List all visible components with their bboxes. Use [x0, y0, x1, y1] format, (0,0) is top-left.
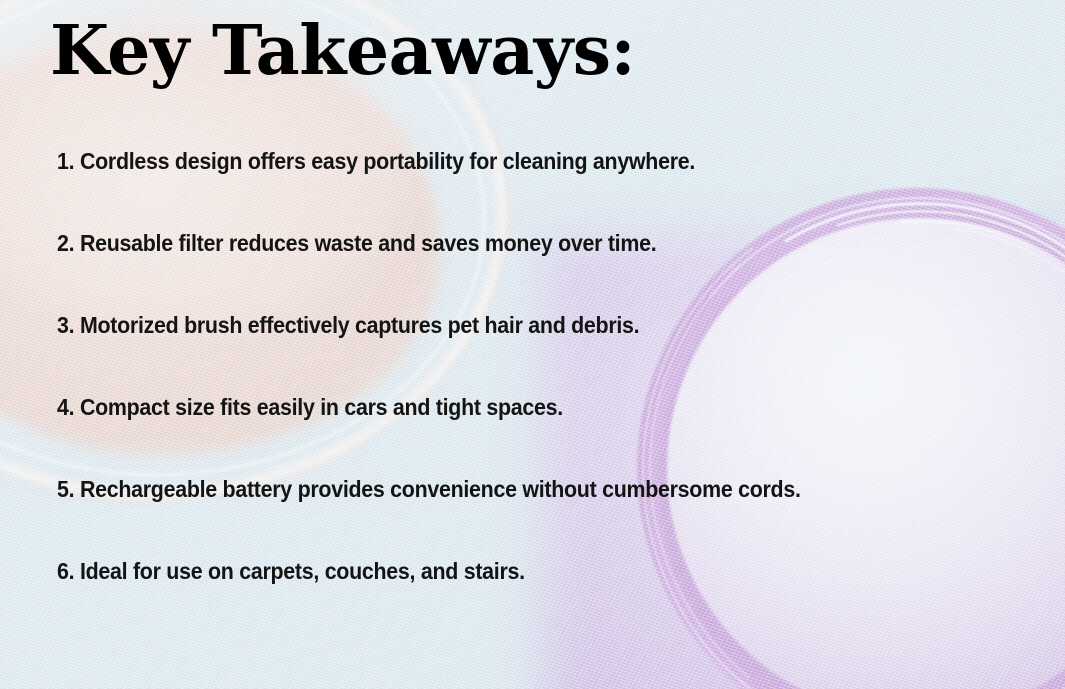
poster-content: Key Takeaways: 1. Cordless design offers… — [0, 0, 1065, 689]
list-item: 2. Reusable filter reduces waste and sav… — [57, 232, 922, 314]
list-item: 3. Motorized brush effectively captures … — [57, 314, 922, 396]
list-item: 4. Compact size fits easily in cars and … — [57, 396, 922, 478]
list-item: 5. Rechargeable battery provides conveni… — [57, 478, 922, 560]
takeaways-list: 1. Cordless design offers easy portabili… — [57, 150, 987, 642]
list-item: 1. Cordless design offers easy portabili… — [57, 150, 922, 232]
page-title: Key Takeaways: — [50, 16, 635, 87]
key-takeaways-poster: Key Takeaways: 1. Cordless design offers… — [0, 0, 1065, 689]
list-item: 6. Ideal for use on carpets, couches, an… — [57, 560, 922, 642]
